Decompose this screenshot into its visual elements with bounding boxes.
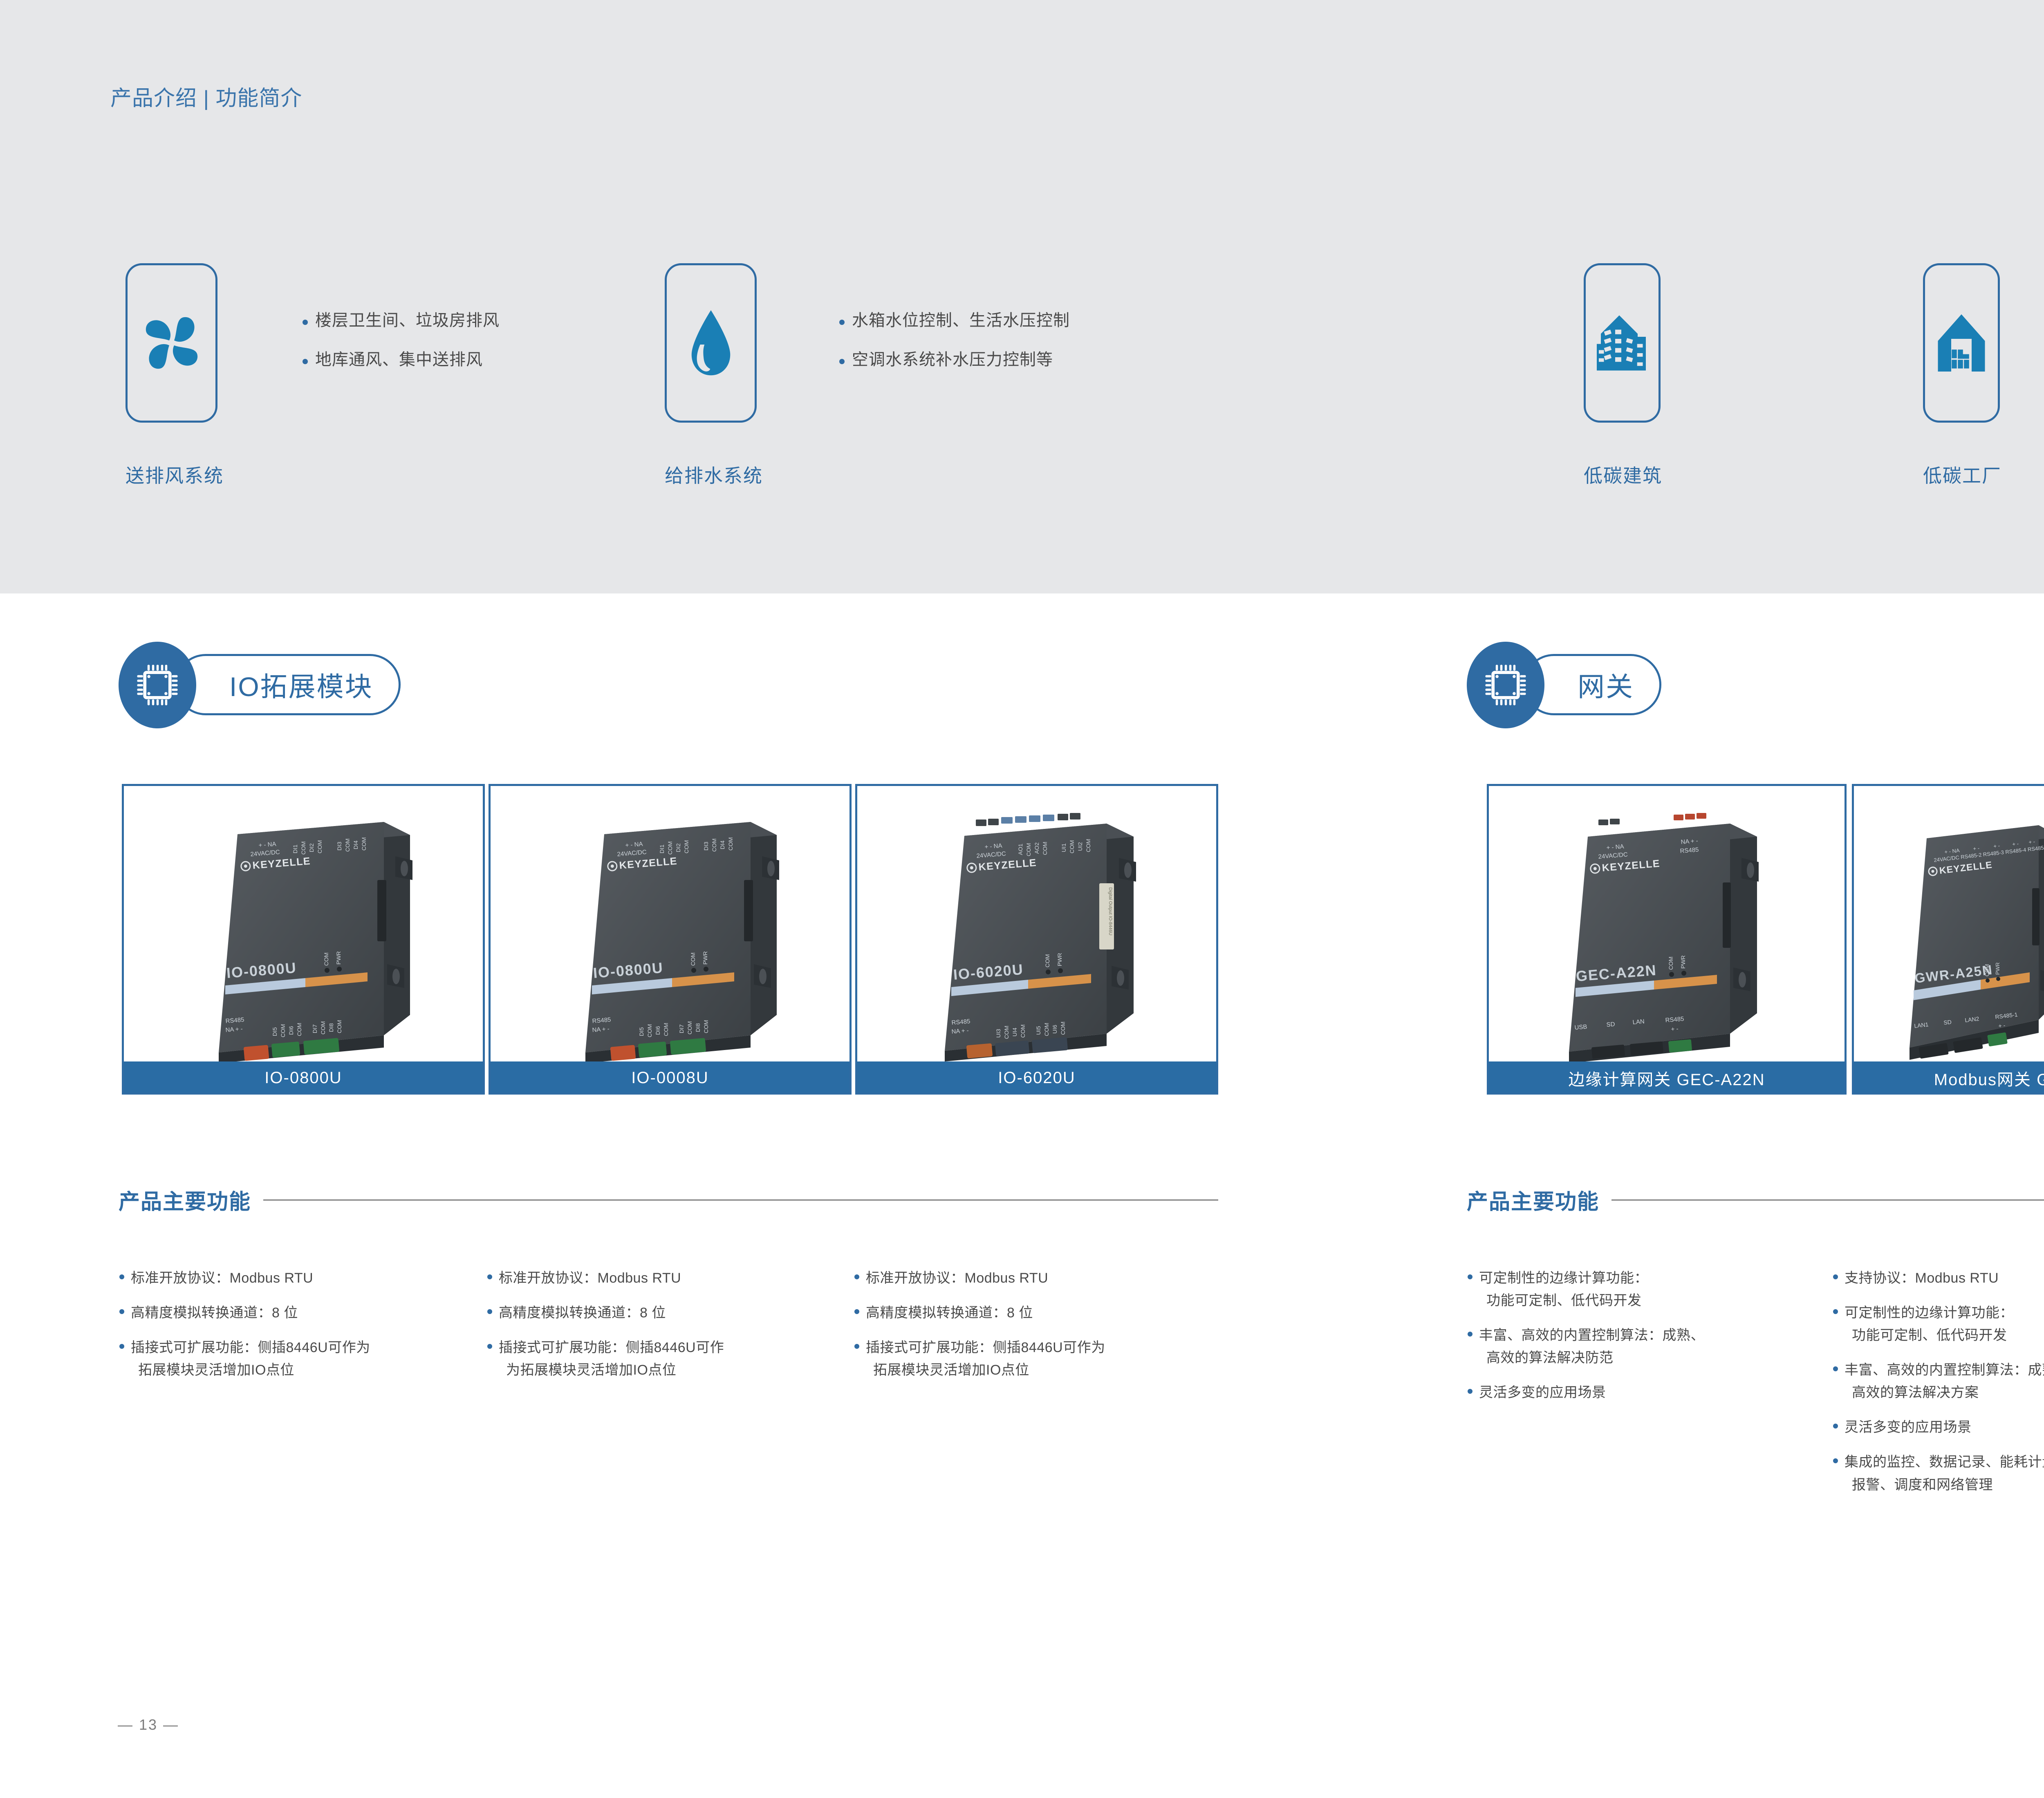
product-caption-bar: IO-6020U — [855, 1061, 1218, 1095]
bullet-item: 楼层卫生间、垃圾房排风 — [303, 311, 500, 330]
product-photo: KEYZELLE IO-0800U + - NA 24VAC/DC DI1 CO… — [124, 786, 483, 1061]
feature-item: 插接式可扩展功能：侧插8446U可作为 拓展模块灵活增加IO点位 — [854, 1337, 1222, 1382]
bullet-dot-icon — [839, 320, 845, 325]
svg-text:COM: COM — [667, 841, 673, 855]
feature-item: 可定制性的边缘计算功能： 功能可定制、低代码开发 — [1833, 1302, 2044, 1347]
device-illustration-gwr-a25n: KEYZELLE GWR-A25N + - NA + - + - + - + -… — [1854, 786, 2044, 1061]
product-card[interactable]: KEYZELLE IO-0800U + - NA 24VAC/DC DI1 CO… — [489, 784, 852, 1095]
product-photo: KEYZELLE GWR-A25N + - NA + - + - + - + -… — [1854, 786, 2044, 1061]
svg-text:LAN: LAN — [1632, 1018, 1645, 1026]
feature-column: 标准开放协议：Modbus RTU 高精度模拟转换通道：8 位 插接式可扩展功能… — [119, 1267, 479, 1394]
feature-text: 标准开放协议：Modbus RTU — [866, 1267, 1048, 1290]
bullet-dot-icon — [1833, 1309, 1838, 1314]
product-caption-bar: Modbus网关 GWR-A25N — [1852, 1061, 2044, 1095]
section-header-gateway: 网关 — [1467, 642, 1712, 728]
section-pill-io: IO拓展模块 — [175, 654, 401, 715]
bullet-text: 地库通风、集中送排风 — [315, 350, 483, 369]
svg-text:PWR: PWR — [1995, 963, 2001, 975]
device-illustration-io-0008u: KEYZELLE IO-0800U + - NA 24VAC/DC DI1 CO… — [491, 786, 849, 1061]
svg-text:DI8: DI8 — [328, 1023, 334, 1032]
svg-text:DI6: DI6 — [288, 1026, 294, 1035]
svg-text:COM: COM — [1667, 956, 1674, 970]
svg-text:COM: COM — [683, 840, 690, 853]
top-gray-band — [0, 0, 2044, 593]
svg-text:NA + -: NA + - — [951, 1027, 969, 1035]
svg-text:+ -: + - — [1998, 1022, 2006, 1029]
feature-text: 标准开放协议：Modbus RTU — [131, 1267, 313, 1290]
svg-text:AO2: AO2 — [1033, 842, 1040, 854]
svg-text:+ - NA: + - NA — [258, 841, 276, 849]
svg-text:USB: USB — [1574, 1023, 1587, 1031]
bullet-text: 空调水系统补水压力控制等 — [852, 350, 1053, 369]
bullet-item: 空调水系统补水压力控制等 — [839, 350, 1070, 369]
chip-icon-glyph — [1483, 663, 1528, 708]
office-building-icon — [1597, 312, 1648, 374]
bullet-dot-icon — [1468, 1389, 1472, 1394]
svg-text:COM: COM — [703, 1020, 709, 1033]
svg-text:UI6: UI6 — [1051, 1025, 1058, 1034]
svg-text:DI4: DI4 — [352, 840, 359, 849]
bullet-dot-icon — [1833, 1274, 1838, 1279]
bullet-dot-icon — [487, 1274, 492, 1279]
product-photo: KEYZELLE GEC-A22N + - NA 24VAC/DC NA + -… — [1489, 786, 1845, 1061]
svg-text:+ -: + - — [1671, 1026, 1679, 1033]
svg-text:PWR: PWR — [335, 951, 342, 965]
svg-text:COM: COM — [686, 1021, 693, 1034]
features-heading-left: 产品主要功能 — [119, 1184, 1218, 1215]
svg-text:DI8: DI8 — [695, 1023, 701, 1032]
water-drop-icon-frame — [665, 263, 757, 423]
svg-text:DI2: DI2 — [675, 843, 681, 852]
svg-text:COM: COM — [336, 1020, 343, 1033]
feature-text: 可定制性的边缘计算功能： 功能可定制、低代码开发 — [1845, 1302, 2014, 1347]
feature-text: 高精度模拟转换通道：8 位 — [131, 1302, 298, 1324]
svg-text:PWR: PWR — [702, 951, 708, 965]
section-title-io: IO拓展模块 — [229, 665, 373, 704]
feature-item: 插接式可扩展功能：侧插8446U可作 为拓展模块灵活增加IO点位 — [487, 1337, 847, 1382]
svg-text:COM: COM — [1044, 954, 1051, 967]
svg-text:+ -: + - — [1993, 842, 2000, 849]
svg-text:NA + -: NA + - — [1681, 837, 1698, 846]
bullet-dot-icon — [839, 359, 845, 364]
svg-text:NA + -: NA + - — [225, 1026, 243, 1034]
water-block-bullets: 水箱水位控制、生活水压控制 空调水系统补水压力控制等 — [839, 311, 1070, 389]
svg-text:DI1: DI1 — [659, 844, 665, 853]
section-title-gateway: 网关 — [1578, 665, 1634, 704]
svg-text:RS485: RS485 — [951, 1018, 970, 1026]
bullet-item: 水箱水位控制、生活水压控制 — [839, 311, 1070, 330]
feature-item: 集成的监控、数据记录、能耗计量、 报警、调度和网络管理 — [1833, 1451, 2044, 1496]
svg-text:SD: SD — [1943, 1019, 1952, 1026]
svg-text:RS485: RS485 — [592, 1016, 611, 1025]
svg-text:COM: COM — [1020, 1024, 1026, 1038]
svg-text:COM: COM — [1042, 842, 1048, 855]
svg-text:AO1: AO1 — [1017, 844, 1024, 855]
feature-item: 标准开放协议：Modbus RTU — [487, 1267, 847, 1290]
office-building-icon-frame — [1584, 263, 1661, 423]
fan-icon-frame — [126, 263, 217, 423]
running-head-left: 产品介绍 | 功能简介 — [110, 81, 302, 112]
svg-text:COM: COM — [280, 1024, 286, 1037]
product-card[interactable]: KEYZELLE GEC-A22N + - NA 24VAC/DC NA + -… — [1487, 784, 1847, 1095]
feature-text: 标准开放协议：Modbus RTU — [499, 1267, 681, 1290]
svg-text:DI5: DI5 — [271, 1027, 278, 1036]
product-caption: IO-0800U — [264, 1069, 342, 1087]
svg-text:DI3: DI3 — [336, 842, 343, 851]
svg-text:UI1: UI1 — [1060, 843, 1067, 852]
feature-text: 高精度模拟转换通道：8 位 — [499, 1302, 666, 1324]
svg-text:COM: COM — [1043, 1023, 1050, 1036]
feature-column: 标准开放协议：Modbus RTU 高精度模拟转换通道：8 位 插接式可扩展功能… — [487, 1267, 847, 1394]
product-caption-bar: IO-0008U — [489, 1061, 852, 1095]
svg-text:COM: COM — [1069, 840, 1075, 853]
bullet-dot-icon — [854, 1274, 859, 1279]
svg-text:SD: SD — [1606, 1021, 1615, 1028]
scenario-caption-1: 低碳工厂 — [1923, 461, 2001, 488]
scenario-caption-0: 低碳建筑 — [1584, 461, 1662, 488]
svg-text:UI2: UI2 — [1077, 842, 1083, 851]
water-block-caption: 给排水系统 — [665, 461, 763, 488]
feature-text: 灵活多变的应用场景 — [1479, 1382, 1606, 1404]
feature-item: 支持协议：Modbus RTU — [1833, 1267, 2044, 1290]
device-illustration-io-0800u: KEYZELLE IO-0800U + - NA 24VAC/DC DI1 CO… — [124, 786, 483, 1061]
svg-text:+ -: + - — [2028, 838, 2035, 845]
feature-text: 插接式可扩展功能：侧插8446U可作为 拓展模块灵活增加IO点位 — [866, 1337, 1105, 1382]
feature-text: 高精度模拟转换通道：8 位 — [866, 1302, 1033, 1324]
product-caption-bar: IO-0800U — [122, 1061, 485, 1095]
svg-text:COM: COM — [711, 838, 717, 852]
chip-icon — [119, 642, 196, 728]
svg-text:RS485: RS485 — [1680, 846, 1699, 855]
product-caption-bar: 边缘计算网关 GEC-A22N — [1487, 1061, 1847, 1095]
feature-item: 插接式可扩展功能：侧插8446U可作为 拓展模块灵活增加IO点位 — [119, 1337, 479, 1382]
svg-text:UI5: UI5 — [1035, 1026, 1042, 1035]
page-number-left: — 13 — — [118, 1716, 179, 1733]
feature-text: 灵活多变的应用场景 — [1845, 1416, 1972, 1439]
svg-text:COM: COM — [663, 1023, 669, 1036]
svg-text:Digital Output IO-8446U: Digital Output IO-8446U — [1108, 887, 1113, 935]
product-caption: IO-0008U — [631, 1069, 708, 1087]
svg-text:COM: COM — [323, 952, 329, 966]
section-header-io: IO拓展模块 — [119, 642, 429, 728]
factory-icon-frame — [1923, 263, 2000, 423]
svg-text:+ - NA: + - NA — [625, 841, 643, 849]
svg-text:PWR: PWR — [1056, 953, 1063, 966]
feature-text: 丰富、高效的内置控制算法：成熟、 高效的算法解决方案 — [1845, 1359, 2044, 1404]
bullet-dot-icon — [1468, 1332, 1472, 1337]
svg-text:COM: COM — [300, 841, 307, 855]
feature-item: 可定制性的边缘计算功能： 功能可定制、低代码开发 — [1468, 1267, 1827, 1312]
device-illustration-io-6020u: Digital Output IO-8446U KEYZELLE IO-6020… — [857, 786, 1216, 1061]
feature-column: 可定制性的边缘计算功能： 功能可定制、低代码开发 丰富、高效的内置控制算法：成熟… — [1468, 1267, 1827, 1416]
product-caption: 边缘计算网关 GEC-A22N — [1568, 1066, 1765, 1090]
feature-column: 支持协议：Modbus RTU 可定制性的边缘计算功能： 功能可定制、低代码开发… — [1833, 1267, 2044, 1509]
features-title: 产品主要功能 — [119, 1184, 251, 1215]
bullet-dot-icon — [303, 359, 308, 364]
svg-text:DI2: DI2 — [308, 843, 315, 852]
svg-text:COM: COM — [296, 1023, 303, 1036]
svg-text:+ -: + - — [1973, 845, 1980, 852]
svg-text:DI6: DI6 — [654, 1026, 661, 1035]
svg-text:DI7: DI7 — [678, 1024, 685, 1033]
feature-item: 标准开放协议：Modbus RTU — [119, 1267, 479, 1290]
feature-text: 集成的监控、数据记录、能耗计量、 报警、调度和网络管理 — [1845, 1451, 2044, 1496]
bullet-dot-icon — [487, 1344, 492, 1349]
product-photo: Digital Output IO-8446U KEYZELLE IO-6020… — [857, 786, 1216, 1061]
features-heading-right: 产品主要功能 — [1467, 1184, 2044, 1215]
bullet-dot-icon — [854, 1309, 859, 1314]
svg-text:COM: COM — [1984, 964, 1990, 976]
svg-text:UI3: UI3 — [995, 1029, 1002, 1038]
svg-text:RS485: RS485 — [225, 1016, 244, 1025]
svg-text:COM: COM — [690, 952, 696, 966]
product-card[interactable]: Digital Output IO-8446U KEYZELLE IO-6020… — [855, 784, 1218, 1095]
svg-text:DI7: DI7 — [312, 1024, 318, 1033]
feature-item: 高精度模拟转换通道：8 位 — [119, 1302, 479, 1324]
bullet-dot-icon — [487, 1309, 492, 1314]
product-card[interactable]: KEYZELLE IO-0800U + - NA 24VAC/DC DI1 CO… — [122, 784, 485, 1095]
bullet-text: 楼层卫生间、垃圾房排风 — [315, 311, 500, 330]
features-title: 产品主要功能 — [1467, 1184, 1599, 1215]
svg-text:COM: COM — [1060, 1021, 1066, 1035]
chip-icon — [1467, 642, 1544, 728]
feature-text: 丰富、高效的内置控制算法：成熟、 高效的算法解决防范 — [1479, 1324, 1705, 1369]
feature-item: 灵活多变的应用场景 — [1468, 1382, 1827, 1404]
product-photo: KEYZELLE IO-0800U + - NA 24VAC/DC DI1 CO… — [491, 786, 849, 1061]
bullet-dot-icon — [119, 1274, 124, 1279]
svg-text:COM: COM — [320, 1021, 326, 1034]
bullet-dot-icon — [119, 1309, 124, 1314]
feature-item: 高精度模拟转换通道：8 位 — [854, 1302, 1222, 1324]
device-illustration-gec-a22n: KEYZELLE GEC-A22N + - NA 24VAC/DC NA + -… — [1489, 786, 1845, 1061]
fan-block-caption: 送排风系统 — [126, 461, 224, 488]
fan-block-bullets: 楼层卫生间、垃圾房排风 地库通风、集中送排风 — [303, 311, 500, 389]
feature-item: 标准开放协议：Modbus RTU — [854, 1267, 1222, 1290]
brochure-page: 产品介绍 | 功能简介 产品介绍 | 功能简介 送排风系统 楼层卫生间、垃圾房排… — [0, 0, 2044, 1798]
feature-item: 丰富、高效的内置控制算法：成熟、 高效的算法解决方案 — [1833, 1359, 2044, 1404]
svg-text:COM: COM — [1003, 1026, 1010, 1039]
svg-text:COM: COM — [727, 837, 734, 851]
feature-text: 可定制性的边缘计算功能： 功能可定制、低代码开发 — [1479, 1267, 1648, 1312]
bullet-dot-icon — [1468, 1274, 1472, 1279]
bullet-text: 水箱水位控制、生活水压控制 — [852, 311, 1070, 330]
feature-item: 丰富、高效的内置控制算法：成熟、 高效的算法解决防范 — [1468, 1324, 1827, 1369]
bullet-dot-icon — [1833, 1458, 1838, 1463]
product-caption: IO-6020U — [998, 1069, 1075, 1087]
bullet-item: 地库通风、集中送排风 — [303, 350, 500, 369]
svg-text:COM: COM — [344, 838, 351, 852]
factory-icon — [1935, 312, 1988, 374]
svg-text:UI4: UI4 — [1011, 1028, 1018, 1037]
bullet-dot-icon — [1833, 1366, 1838, 1371]
svg-text:DI5: DI5 — [638, 1027, 645, 1036]
chip-icon-glyph — [135, 663, 180, 708]
bullet-dot-icon — [119, 1344, 124, 1349]
svg-text:+ - NA: + - NA — [1606, 843, 1624, 851]
heading-rule — [263, 1199, 1218, 1201]
water-drop-icon — [684, 307, 737, 379]
bullet-dot-icon — [854, 1344, 859, 1349]
svg-text:+ -: + - — [2012, 840, 2019, 847]
feature-text: 插接式可扩展功能：侧插8446U可作 为拓展模块灵活增加IO点位 — [499, 1337, 724, 1382]
svg-text:COM: COM — [1025, 843, 1032, 856]
feature-column: 标准开放协议：Modbus RTU 高精度模拟转换通道：8 位 插接式可扩展功能… — [854, 1267, 1222, 1394]
svg-text:COM: COM — [646, 1024, 653, 1037]
fan-icon — [141, 310, 202, 376]
feature-text: 支持协议：Modbus RTU — [1845, 1267, 1999, 1290]
bullet-dot-icon — [303, 320, 308, 325]
bullet-dot-icon — [1833, 1424, 1838, 1429]
svg-text:COM: COM — [316, 840, 323, 853]
svg-text:+ - NA: + - NA — [984, 842, 1002, 851]
product-caption: Modbus网关 GWR-A25N — [1934, 1066, 2044, 1090]
svg-text:DI4: DI4 — [719, 840, 726, 849]
svg-text:NA + -: NA + - — [592, 1026, 610, 1034]
svg-text:COM: COM — [361, 837, 367, 851]
feature-item: 灵活多变的应用场景 — [1833, 1416, 2044, 1439]
heading-rule — [1611, 1199, 2044, 1201]
feature-item: 高精度模拟转换通道：8 位 — [487, 1302, 847, 1324]
svg-text:DI1: DI1 — [292, 844, 298, 853]
svg-text:DI3: DI3 — [703, 842, 709, 851]
product-card[interactable]: KEYZELLE GWR-A25N + - NA + - + - + - + -… — [1852, 784, 2044, 1095]
feature-text: 插接式可扩展功能：侧插8446U可作为 拓展模块灵活增加IO点位 — [131, 1337, 370, 1382]
svg-text:PWR: PWR — [1680, 955, 1686, 969]
svg-text:COM: COM — [1085, 839, 1091, 852]
svg-text:RS485: RS485 — [1665, 1015, 1684, 1024]
